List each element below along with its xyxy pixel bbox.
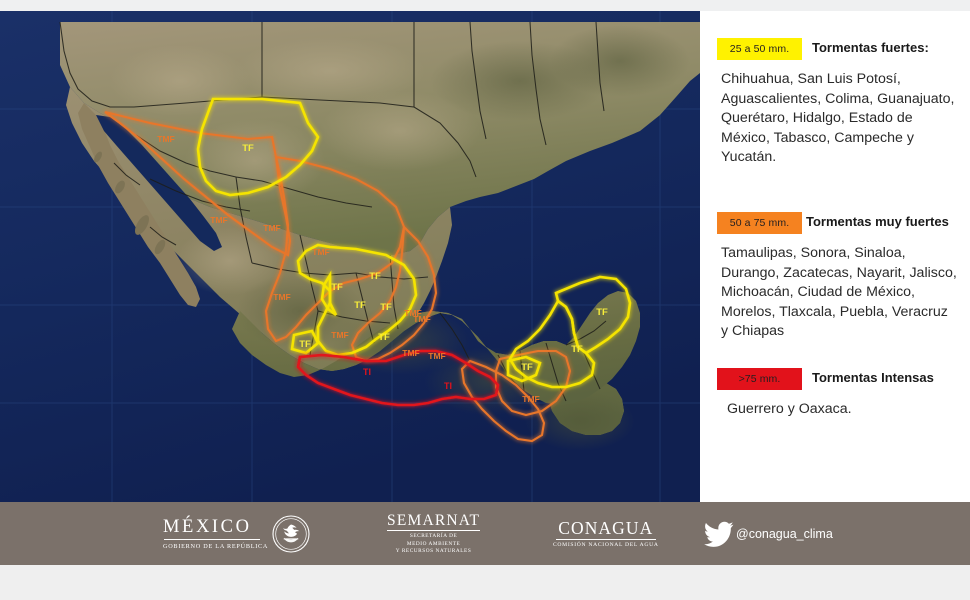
map-label-tmf-10: TMF [522, 394, 539, 404]
conagua-rule [556, 539, 656, 540]
eagle-seal-graphic [272, 515, 310, 553]
map-label-tf-3: TF [354, 300, 366, 311]
map-label-tmf-8: TMF [402, 348, 419, 358]
twitter-account[interactable]: @conagua_clima [704, 502, 833, 565]
legend-swatch-red: >75 mm. [717, 368, 802, 390]
map-label-tf-9: TF [521, 362, 533, 373]
legend-swatch-yellow: 25 a 50 mm. [717, 38, 802, 60]
mexico-rule [164, 539, 260, 540]
footer-bar: MÉXICO GOBIERNO DE LA REPÚBLICA SEMARNAT… [0, 502, 970, 565]
page-root: TFTFTFTFTFTFTFTFTFTF TMFTMFTMFTMFTMFTMFT… [0, 0, 970, 600]
semarnat-sub-line3: Y RECURSOS NATURALES [396, 548, 472, 555]
legend-swatch-orange: 50 a 75 mm. [717, 212, 802, 234]
legend-states-intensas: Guerrero y Oaxaca. [700, 400, 970, 420]
map-label-tmf-4: TMF [273, 292, 290, 302]
map-label-tf-4: TF [380, 302, 392, 313]
twitter-bird-icon[interactable] [704, 521, 734, 547]
legend-title-fuertes: Tormentas fuertes: [812, 40, 929, 55]
map-label-tmf-0: TMF [157, 134, 174, 144]
conagua-subtitle: COMISIÓN NACIONAL DEL AGUA [553, 542, 659, 548]
map-label-tmf-9: TMF [428, 351, 445, 361]
map-label-tmf-1: TMF [210, 215, 227, 225]
semarnat-wordmark: SEMARNAT [387, 512, 480, 529]
legend-states-fuertes: Chihuahua, San Luis Potosí, Aguascalient… [700, 70, 970, 168]
legend-title-muy-fuertes: Tormentas muy fuertes [806, 214, 949, 229]
map-label-tmf-7: TMF [413, 314, 430, 324]
map-graphic: TFTFTFTFTFTFTFTFTFTF TMFTMFTMFTMFTMFTMFT… [0, 11, 700, 502]
mexican-eagle-seal-icon [271, 502, 311, 565]
bottom-strip [0, 565, 970, 600]
legend-head-muy-fuertes: 50 a 75 mm. Tormentas muy fuertes [700, 212, 970, 238]
legend-panel: 25 a 50 mm. Tormentas fuertes: Chihuahua… [700, 11, 970, 502]
mexico-wordmark: MÉXICO [163, 517, 252, 537]
map-label-tf-0: TF [242, 143, 254, 154]
legend-block-intensas: >75 mm. Tormentas Intensas Guerrero y Oa… [700, 368, 970, 420]
logo-semarnat: SEMARNAT SECRETARÍA DE MEDIO AMBIENTE Y … [387, 502, 480, 565]
map-label-ti-0: TI [363, 367, 371, 377]
map-label-ti-1: TI [444, 381, 452, 391]
map-label-tf-5: TF [378, 332, 390, 343]
map-label-tmf-2: TMF [263, 223, 280, 233]
legend-head-fuertes: 25 a 50 mm. Tormentas fuertes: [700, 38, 970, 64]
legend-title-intensas: Tormentas Intensas [812, 370, 934, 385]
map-label-tf-2: TF [369, 271, 381, 282]
map-label-tf-1: TF [331, 282, 343, 293]
legend-block-fuertes: 25 a 50 mm. Tormentas fuertes: Chihuahua… [700, 38, 970, 168]
map-label-tf-6: TF [299, 339, 311, 350]
map-label-tf-8: TF [571, 344, 583, 355]
mexico-subtitle: GOBIERNO DE LA REPÚBLICA [163, 543, 268, 550]
map-canvas: TFTFTFTFTFTFTFTFTFTF TMFTMFTMFTMFTMFTMFT… [0, 11, 700, 502]
legend-states-muy-fuertes: Tamaulipas, Sonora, Sinaloa, Durango, Za… [700, 244, 970, 342]
map-label-tmf-3: TMF [312, 247, 329, 257]
logo-conagua: CONAGUA COMISIÓN NACIONAL DEL AGUA [553, 502, 659, 565]
semarnat-sub-line2: MEDIO AMBIENTE [407, 541, 460, 548]
twitter-handle-text[interactable]: @conagua_clima [736, 527, 833, 541]
map-label-tf-7: TF [596, 307, 608, 318]
conagua-wordmark: CONAGUA [558, 519, 653, 538]
logo-gobierno-mexico: MÉXICO GOBIERNO DE LA REPÚBLICA [163, 502, 268, 565]
legend-head-intensas: >75 mm. Tormentas Intensas [700, 368, 970, 394]
forecast-map[interactable]: TFTFTFTFTFTFTFTFTFTF TMFTMFTMFTMFTMFTMFT… [0, 11, 700, 502]
semarnat-sub-line1: SECRETARÍA DE [410, 533, 457, 540]
map-label-tmf-5: TMF [331, 330, 348, 340]
legend-block-muy-fuertes: 50 a 75 mm. Tormentas muy fuertes Tamaul… [700, 212, 970, 342]
top-strip [0, 0, 970, 11]
semarnat-rule [387, 530, 480, 531]
